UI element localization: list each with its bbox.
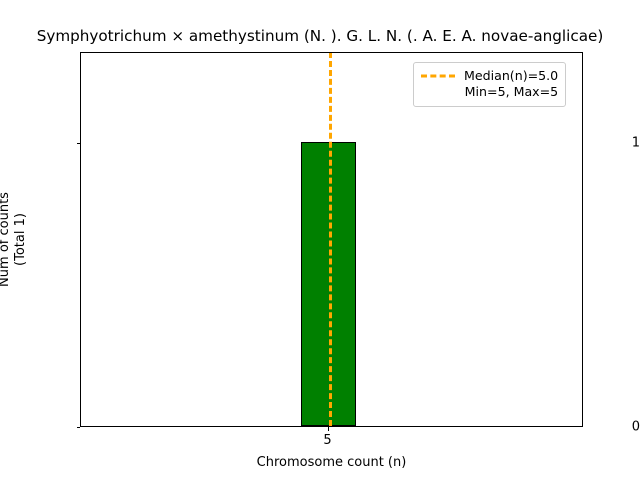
- x-tick-label-5: 5: [323, 434, 331, 448]
- median-line: [329, 53, 332, 426]
- y-axis-label-wrap: Num of counts (Total 1): [0, 52, 45, 427]
- x-tick-mark-5: [328, 427, 329, 431]
- y-tick-mark-0: [77, 427, 81, 428]
- plot-area: [80, 52, 583, 427]
- legend: Median(n)=5.0 Min=5, Max=5: [413, 62, 566, 107]
- page-title: Symphyotrichum × amethystinum (N. ). G. …: [0, 27, 640, 45]
- legend-label-median: Median(n)=5.0: [464, 68, 558, 84]
- y-axis-label: Num of counts (Total 1): [0, 52, 29, 427]
- legend-item-minmax: Min=5, Max=5: [421, 84, 558, 100]
- dashed-line-icon: [421, 70, 455, 82]
- chart-figure: Symphyotrichum × amethystinum (N. ). G. …: [0, 0, 640, 480]
- x-axis-label: Chromosome count (n): [80, 455, 583, 470]
- legend-item-median: Median(n)=5.0: [421, 68, 558, 84]
- plot-inner: [81, 53, 582, 426]
- legend-label-minmax: Min=5, Max=5: [465, 84, 559, 100]
